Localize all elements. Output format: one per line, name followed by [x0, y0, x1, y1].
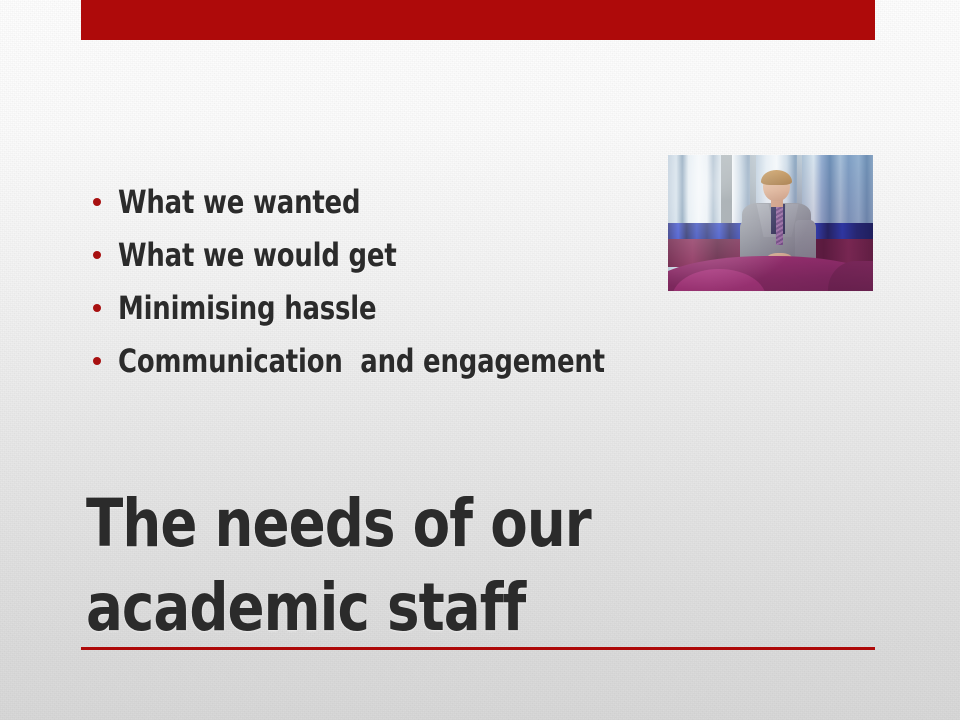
page-title: The needs of our academic staff: [86, 482, 706, 650]
photo-light-wash: [668, 155, 873, 291]
list-item: What we wanted: [88, 175, 648, 228]
page-title-line: academic staff: [86, 566, 656, 650]
bullet-item-label: What we wanted: [118, 186, 360, 218]
bullet-list: What we wanted What we would get Minimis…: [88, 175, 648, 387]
list-item: Minimising hassle: [88, 281, 648, 334]
bullet-dot-icon: [93, 251, 101, 259]
bullet-item-label: What we would get: [118, 239, 397, 271]
list-item: What we would get: [88, 228, 648, 281]
bottom-red-rule: [81, 647, 875, 650]
presentation-slide: What we wanted What we would get Minimis…: [0, 0, 960, 720]
bullet-dot-icon: [93, 357, 101, 365]
bullet-item-label: Communication and engagement: [118, 345, 605, 377]
bullet-dot-icon: [93, 198, 101, 206]
staff-photograph: [668, 155, 873, 291]
page-title-line: The needs of our: [86, 482, 656, 566]
list-item: Communication and engagement: [88, 334, 648, 387]
top-red-banner: [81, 0, 875, 40]
bullet-item-label: Minimising hassle: [118, 292, 376, 324]
bullet-dot-icon: [93, 304, 101, 312]
